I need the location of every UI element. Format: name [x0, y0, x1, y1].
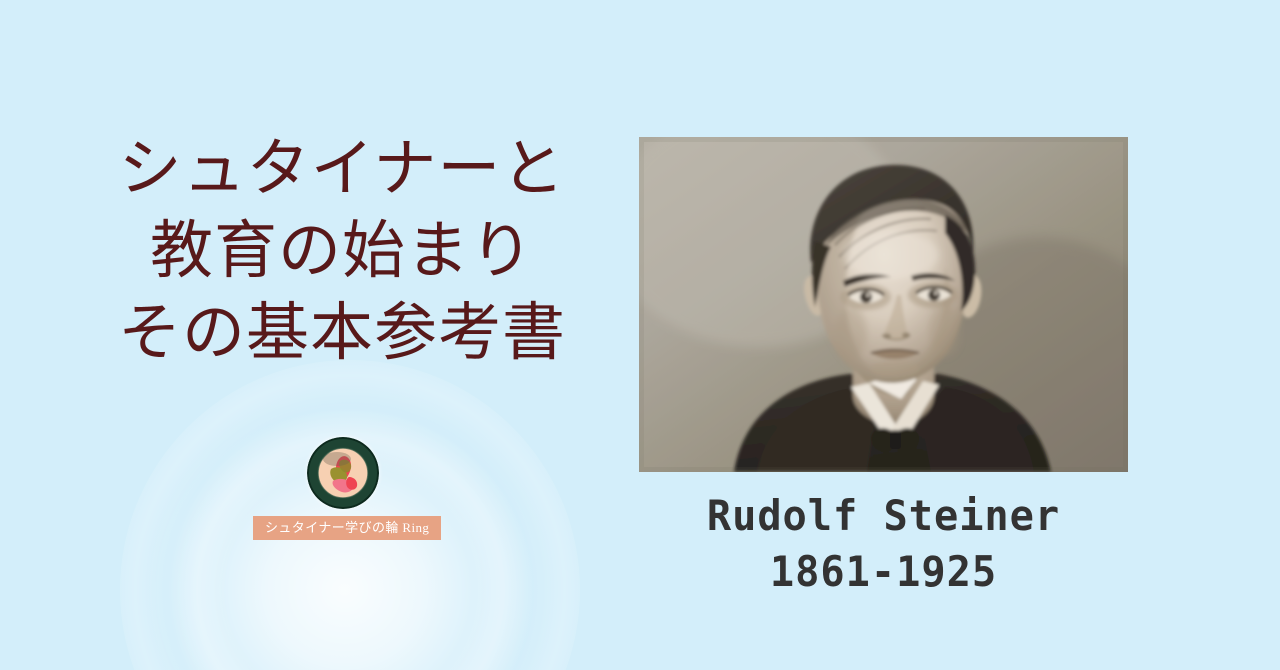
portrait-photo — [639, 137, 1128, 472]
logo-banner-label: シュタイナー学びの輪 Ring — [253, 516, 441, 540]
title-line-1: シュタイナーと — [92, 128, 592, 210]
title-line-2: 教育の始まり — [92, 210, 592, 292]
caption-years: 1861-1925 — [649, 544, 1118, 600]
brand-logo[interactable]: シュタイナー学びの輪 Ring — [253, 437, 433, 540]
logo-badge-icon — [307, 437, 379, 509]
page-title: シュタイナーと 教育の始まり その基本参考書 — [92, 128, 592, 374]
title-line-3: その基本参考書 — [92, 292, 592, 374]
slide-canvas: シュタイナーと 教育の始まり その基本参考書 — [0, 0, 1280, 670]
caption-name: Rudolf Steiner — [649, 488, 1118, 544]
portrait-caption: Rudolf Steiner 1861-1925 — [639, 488, 1128, 600]
